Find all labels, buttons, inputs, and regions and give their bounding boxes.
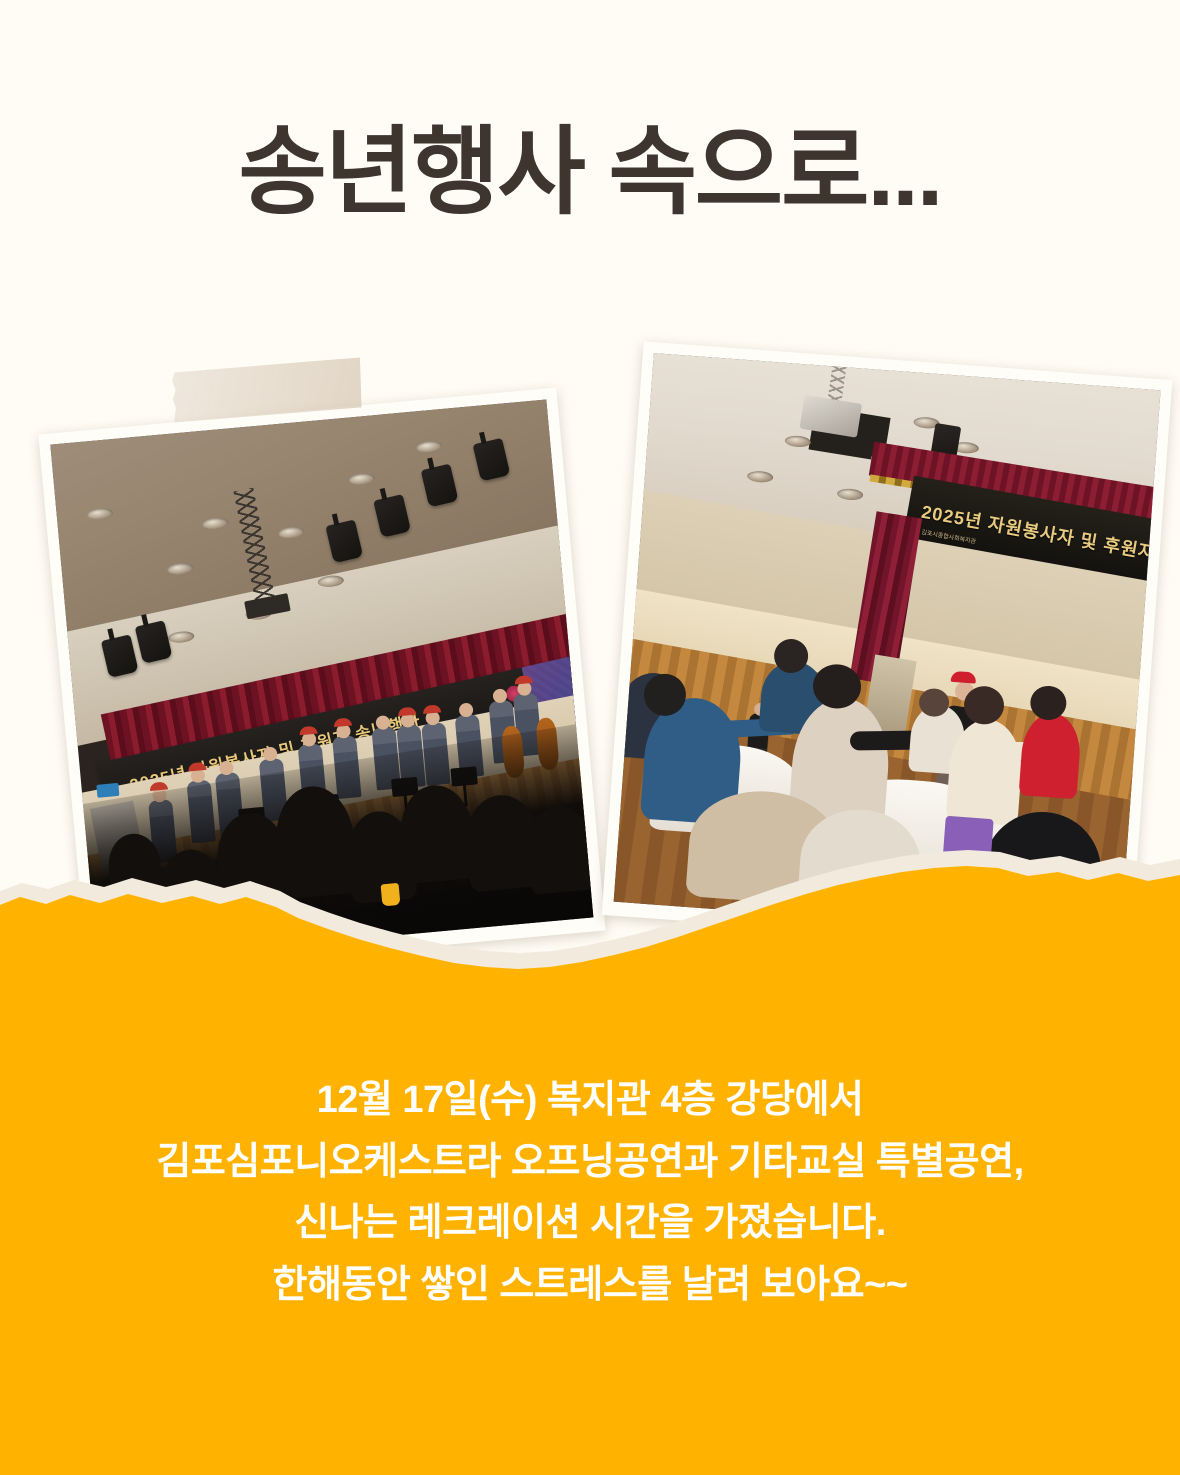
caption-block: 12월 17일(수) 복지관 4층 강당에서 김포심포니오케스트라 오프닝공연과…: [0, 1070, 1180, 1316]
page-title: 송년행사 속으로...: [239, 125, 942, 221]
poster-page: 송년행사 속으로...: [0, 0, 1180, 1475]
caption-line-3: 신나는 레크레이션 시간을 가졌습니다.: [0, 1193, 1180, 1255]
caption-line-1: 12월 17일(수) 복지관 4층 강당에서: [0, 1070, 1180, 1132]
title-block: 송년행사 속으로...: [0, 0, 1180, 345]
caption-line-4: 한해동안 쌓인 스트레스를 날려 보아요~~: [0, 1255, 1180, 1317]
caption-line-2: 김포심포니오케스트라 오프닝공연과 기타교실 특별공연,: [0, 1132, 1180, 1194]
exit-sign-icon: [96, 783, 119, 798]
